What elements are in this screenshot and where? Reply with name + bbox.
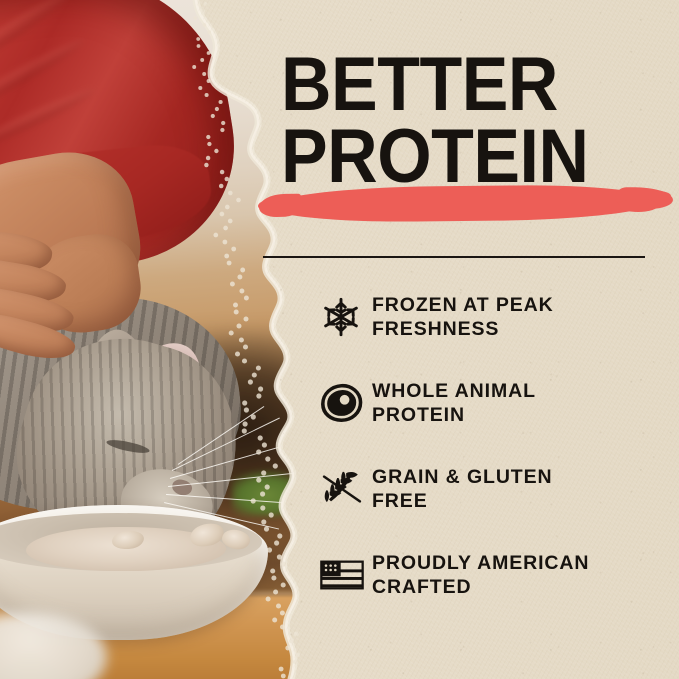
paper-fibre [220, 212, 225, 217]
paper-fibre [235, 351, 240, 356]
paper-fibre [234, 310, 239, 315]
headline-line-2: PROTEIN [281, 122, 631, 192]
feature-label-line-2: FREE [372, 490, 428, 512]
paper-fibre [207, 51, 211, 55]
paper-fibre [207, 142, 211, 146]
paper-fibre [251, 498, 256, 503]
paper-fibre [236, 198, 241, 203]
brush-stroke-tail [258, 200, 284, 212]
paper-fibre [274, 540, 279, 545]
paper-fibre [223, 240, 228, 245]
paper-fibre [243, 316, 248, 321]
paper-fibre [206, 156, 210, 160]
feature-label-line-2: PROTEIN [372, 404, 465, 426]
paper-fibre [225, 177, 230, 182]
feature-label: PROUDLY AMERICAN CRAFTED [372, 546, 589, 599]
paper-fibre [194, 16, 198, 20]
feature-label-line-1: FROZEN AT PEAK [372, 294, 554, 316]
paper-fibre [277, 533, 282, 538]
paper-fibre [220, 128, 224, 132]
paper-fibre [256, 449, 261, 454]
paper-fibre [242, 358, 247, 363]
paper-fibre [207, 79, 211, 83]
brush-stroke-tail [618, 199, 658, 212]
paper-fibre [244, 296, 249, 301]
paper-fibre [243, 344, 248, 349]
feature-label-line-1: GRAIN & GLUTEN [372, 466, 553, 488]
paper-fibre [242, 428, 247, 433]
paper-fibre [260, 491, 265, 496]
feature-label: GRAIN & GLUTEN FREE [372, 460, 553, 513]
paper-fibre [262, 442, 267, 447]
paper-fibre [258, 435, 263, 440]
paper-fibre [280, 610, 285, 615]
paper-fibre [228, 191, 233, 196]
paper-fibre [203, 23, 207, 27]
paper-fibre [227, 261, 232, 266]
paper-fibre [256, 393, 261, 398]
paper-fibre [220, 170, 224, 174]
horizontal-divider [263, 256, 645, 258]
paper-fibre [270, 568, 275, 573]
paper-fibre [229, 330, 234, 335]
paper-fibre [214, 149, 218, 153]
paper-fibre [228, 219, 233, 224]
feature-item-american: PROUDLY AMERICAN CRAFTED [320, 546, 670, 632]
wheat-crossed-icon [320, 460, 372, 512]
feature-label-line-1: WHOLE ANIMAL [372, 380, 536, 402]
american-flag-icon [320, 546, 372, 598]
paper-fibre [256, 365, 261, 370]
feature-list: FROZEN AT PEAK FRESHNESS WHOLE ANIMAL PR… [320, 288, 670, 632]
feature-label-line-1: PROUDLY AMERICAN [372, 552, 589, 574]
paper-fibre [239, 289, 244, 294]
paper-fibre [265, 456, 270, 461]
paper-fibre [237, 275, 242, 280]
paper-fibre [271, 575, 276, 580]
paper-fibre [225, 205, 230, 210]
paper-fibre [251, 414, 256, 419]
paper-fibre [211, 114, 215, 118]
paper-fibre [267, 547, 272, 552]
paper-fibre [243, 421, 248, 426]
paper-fibre [261, 519, 266, 524]
paper-fibre [269, 512, 274, 517]
paper-fibre [293, 660, 298, 665]
paper-fibre [294, 632, 299, 637]
paper-fibre [261, 470, 266, 475]
paper-fibre [221, 121, 225, 125]
paper-fibre [279, 667, 284, 672]
paper-fibre [281, 674, 286, 679]
paper-fibre [198, 86, 202, 90]
paper-fibre [197, 44, 201, 48]
paper-fibre [273, 589, 278, 594]
headline-line-1: BETTER [281, 50, 631, 120]
paper-fibre [266, 596, 271, 601]
paper-fibre [256, 477, 261, 482]
paper-fibre [273, 463, 278, 468]
paper-fibre [230, 282, 235, 287]
paper-fibre [219, 100, 223, 104]
paper-fibre [276, 603, 281, 608]
paper-fibre [240, 268, 245, 273]
feature-label-line-2: FRESHNESS [372, 318, 499, 340]
product-feature-card: BETTER PROTEIN [0, 0, 679, 679]
paper-fibre [280, 625, 285, 630]
paper-fibre [295, 653, 300, 658]
paper-fibre [289, 639, 294, 644]
paper-fibre [207, 30, 211, 34]
feature-item-protein: WHOLE ANIMAL PROTEIN [320, 374, 670, 460]
feature-label: WHOLE ANIMAL PROTEIN [372, 374, 536, 427]
paper-fibre [285, 646, 290, 651]
paper-fibre [248, 379, 253, 384]
paper-fibre [244, 407, 249, 412]
paper-fibre [258, 386, 263, 391]
paper-fibre [202, 72, 206, 76]
paper-fibre [196, 37, 200, 41]
steak-icon [320, 374, 372, 426]
paper-fibre [272, 618, 277, 623]
paper-fibre [202, 9, 206, 13]
paper-fibre [281, 582, 286, 587]
feature-item-grain-free: GRAIN & GLUTEN FREE [320, 460, 670, 546]
paper-fibre [219, 184, 224, 189]
paper-fibre [277, 554, 282, 559]
feature-item-frozen: FROZEN AT PEAK FRESHNESS [320, 288, 670, 374]
paper-fibre [264, 526, 269, 531]
paper-fibre [192, 65, 196, 69]
paper-fibre [204, 163, 208, 167]
brush-stroke-tail [645, 191, 671, 201]
feature-label: FROZEN AT PEAK FRESHNESS [372, 288, 554, 341]
paper-fibre [231, 247, 236, 252]
paper-fibre [200, 58, 204, 62]
paper-fibre [260, 505, 265, 510]
paper-fibre [223, 226, 228, 231]
paper-fibre [215, 107, 219, 111]
paper-fibre [205, 93, 209, 97]
paper-fibre [204, 2, 208, 6]
paper-fibre [281, 561, 286, 566]
paper-fibre [233, 303, 238, 308]
paper-fibre [206, 135, 210, 139]
feature-label-line-2: CRAFTED [372, 576, 471, 598]
paper-fibre [252, 372, 257, 377]
paper-fibre [239, 337, 244, 342]
snowflake-icon [320, 288, 372, 340]
paper-fibre [213, 233, 218, 238]
paper-fibre [236, 323, 241, 328]
headline-block: BETTER PROTEIN [281, 50, 661, 192]
paper-fibre [224, 254, 229, 259]
paper-fibre [265, 484, 270, 489]
paper-fibre [242, 400, 247, 405]
